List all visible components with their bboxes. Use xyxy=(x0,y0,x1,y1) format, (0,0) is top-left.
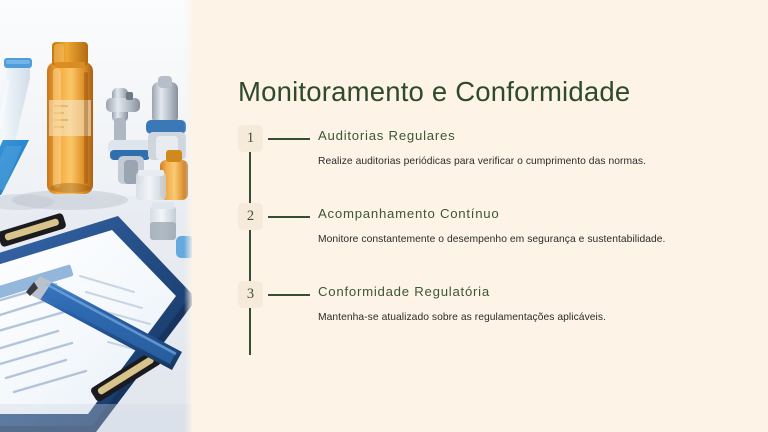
step-connector-line-3 xyxy=(268,294,310,296)
timeline: 1 Auditorias Regulares Realize auditoria… xyxy=(238,125,758,357)
timeline-step-3[interactable]: 3 Conformidade Regulatória Mantenha-se a… xyxy=(238,281,758,351)
step-number-badge-1: 1 xyxy=(238,125,263,152)
step-number-badge-2: 2 xyxy=(238,203,263,230)
page-title: Monitoramento e Conformidade xyxy=(238,76,630,108)
step-number-badge-3: 3 xyxy=(238,281,263,308)
step-description-2: Monitore constantemente o desempenho em … xyxy=(318,234,665,245)
content-panel: Monitoramento e Conformidade 1 Auditoria… xyxy=(192,0,768,432)
timeline-step-1[interactable]: 1 Auditorias Regulares Realize auditoria… xyxy=(238,125,758,195)
laboratory-photo-illustration xyxy=(0,0,192,432)
step-heading-2: Acompanhamento Contínuo xyxy=(318,206,499,221)
amber-bottle xyxy=(47,42,93,194)
lab-image-panel xyxy=(0,0,192,432)
step-heading-1: Auditorias Regulares xyxy=(318,128,455,143)
step-connector-line-1 xyxy=(268,138,310,140)
slide-root: Monitoramento e Conformidade 1 Auditoria… xyxy=(0,0,768,432)
step-connector-line-2 xyxy=(268,216,310,218)
step-heading-3: Conformidade Regulatória xyxy=(318,284,490,299)
timeline-step-2[interactable]: 2 Acompanhamento Contínuo Monitore const… xyxy=(238,203,758,273)
step-description-1: Realize auditorias periódicas para verif… xyxy=(318,156,646,167)
step-description-3: Mantenha-se atualizado sobre as regulame… xyxy=(318,312,606,323)
